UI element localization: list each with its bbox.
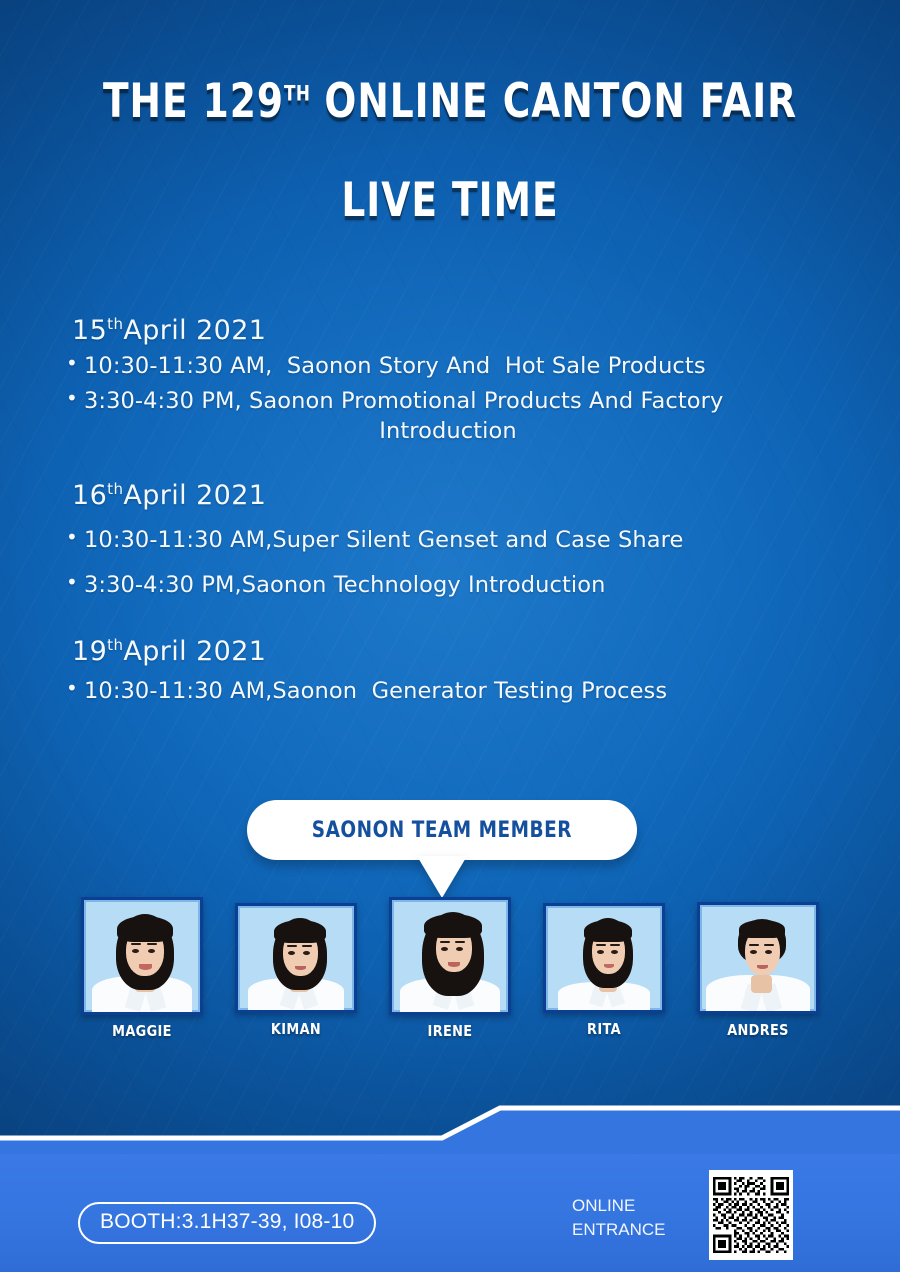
online-entrance-line-2: ENTRANCE bbox=[572, 1218, 666, 1242]
team-member-photo bbox=[389, 897, 511, 1015]
footer-band: BOOTH:3.1H37-39, I08-10 ONLINE ENTRANCE bbox=[0, 1154, 900, 1272]
team-banner-label: SAONON TEAM MEMBER bbox=[312, 818, 572, 843]
team-member: ANDRES bbox=[697, 897, 819, 1040]
schedule-month-year: April 2021 bbox=[123, 636, 266, 667]
schedule-day-ordinal: th bbox=[107, 315, 123, 333]
schedule-item-text: 10:30-11:30 AM, Saonon Story And Hot Sal… bbox=[84, 353, 706, 379]
schedule-item: 3:30-4:30 PM,Saonon Technology Introduct… bbox=[72, 570, 872, 600]
footer-diagonal-divider bbox=[0, 1092, 900, 1154]
online-entrance-label: ONLINE ENTRANCE bbox=[572, 1194, 666, 1242]
schedule-item-text: 10:30-11:30 AM,Super Silent Genset and C… bbox=[84, 527, 683, 553]
team-member-name: RITA bbox=[552, 1020, 657, 1038]
team-member-photo bbox=[543, 903, 665, 1013]
team-member-photo bbox=[697, 902, 819, 1014]
team-member-name: MAGGIE bbox=[90, 1022, 195, 1040]
schedule-day-ordinal: th bbox=[107, 636, 123, 654]
team-member-name: ANDRES bbox=[706, 1021, 811, 1039]
schedule-item: 10:30-11:30 AM,Super Silent Genset and C… bbox=[72, 525, 872, 555]
portrait-illustration bbox=[84, 900, 200, 1012]
schedule-month-year: April 2021 bbox=[123, 480, 266, 511]
schedule-item-text: 10:30-11:30 AM,Saonon Generator Testing … bbox=[84, 678, 667, 704]
schedule-day-number: 15 bbox=[72, 315, 107, 346]
headline-ordinal-suffix: TH bbox=[284, 81, 310, 105]
schedule-item: 3:30-4:30 PM, Saonon Promotional Product… bbox=[72, 386, 872, 446]
schedule-item: 10:30-11:30 AM,Saonon Generator Testing … bbox=[72, 676, 872, 706]
schedule-block: 16thApril 2021 10:30-11:30 AM,Super Sile… bbox=[72, 480, 872, 599]
team-banner-pointer-icon bbox=[417, 856, 467, 898]
headline-line-2: LIVE TIME bbox=[90, 177, 810, 224]
portrait-illustration bbox=[546, 906, 662, 1010]
portrait-illustration bbox=[700, 905, 816, 1011]
schedule-date: 16thApril 2021 bbox=[72, 480, 872, 511]
poster-canvas: THE 129TH ONLINE CANTON FAIR LIVE TIME 1… bbox=[0, 0, 900, 1272]
team-member: RITA bbox=[543, 897, 665, 1040]
team-member-name: KIMAN bbox=[244, 1020, 349, 1038]
schedule-day-number: 19 bbox=[72, 636, 107, 667]
schedule-item-text: 3:30-4:30 PM, Saonon Promotional Product… bbox=[84, 388, 723, 414]
team-banner-bubble: SAONON TEAM MEMBER bbox=[247, 800, 637, 860]
schedule-block: 15thApril 2021 10:30-11:30 AM, Saonon St… bbox=[72, 315, 872, 446]
schedule-month-year: April 2021 bbox=[123, 315, 266, 346]
team-member-name: IRENE bbox=[398, 1022, 503, 1040]
portrait-illustration bbox=[238, 906, 354, 1010]
schedule-block: 19thApril 2021 10:30-11:30 AM,Saonon Gen… bbox=[72, 636, 872, 706]
schedule-day-number: 16 bbox=[72, 480, 107, 511]
headline-pre-text: THE 129 bbox=[103, 74, 284, 129]
headline-post-text: ONLINE CANTON FAIR bbox=[310, 74, 797, 129]
online-entrance-line-1: ONLINE bbox=[572, 1194, 666, 1218]
team-member: KIMAN bbox=[235, 897, 357, 1040]
schedule-day-ordinal: th bbox=[107, 480, 123, 498]
team-member-photo bbox=[235, 903, 357, 1013]
portrait-illustration bbox=[392, 900, 508, 1012]
team-member: MAGGIE bbox=[81, 897, 203, 1040]
schedule-list: 15thApril 2021 10:30-11:30 AM, Saonon St… bbox=[72, 315, 872, 732]
team-member: IRENE bbox=[389, 897, 511, 1040]
schedule-date: 15thApril 2021 bbox=[72, 315, 872, 346]
schedule-item-text: 3:30-4:30 PM,Saonon Technology Introduct… bbox=[84, 572, 605, 598]
schedule-item: 10:30-11:30 AM, Saonon Story And Hot Sal… bbox=[72, 351, 872, 381]
headline-line-1: THE 129TH ONLINE CANTON FAIR bbox=[90, 78, 810, 125]
booth-badge: BOOTH:3.1H37-39, I08-10 bbox=[78, 1202, 376, 1244]
team-member-list: MAGGIE KIMAN bbox=[0, 897, 900, 1040]
qr-code-icon[interactable] bbox=[709, 1170, 793, 1260]
team-member-photo bbox=[81, 897, 203, 1015]
poster-headline: THE 129TH ONLINE CANTON FAIR LIVE TIME bbox=[0, 78, 900, 224]
schedule-item-continuation: Introduction bbox=[84, 416, 872, 446]
schedule-date: 19thApril 2021 bbox=[72, 636, 872, 667]
